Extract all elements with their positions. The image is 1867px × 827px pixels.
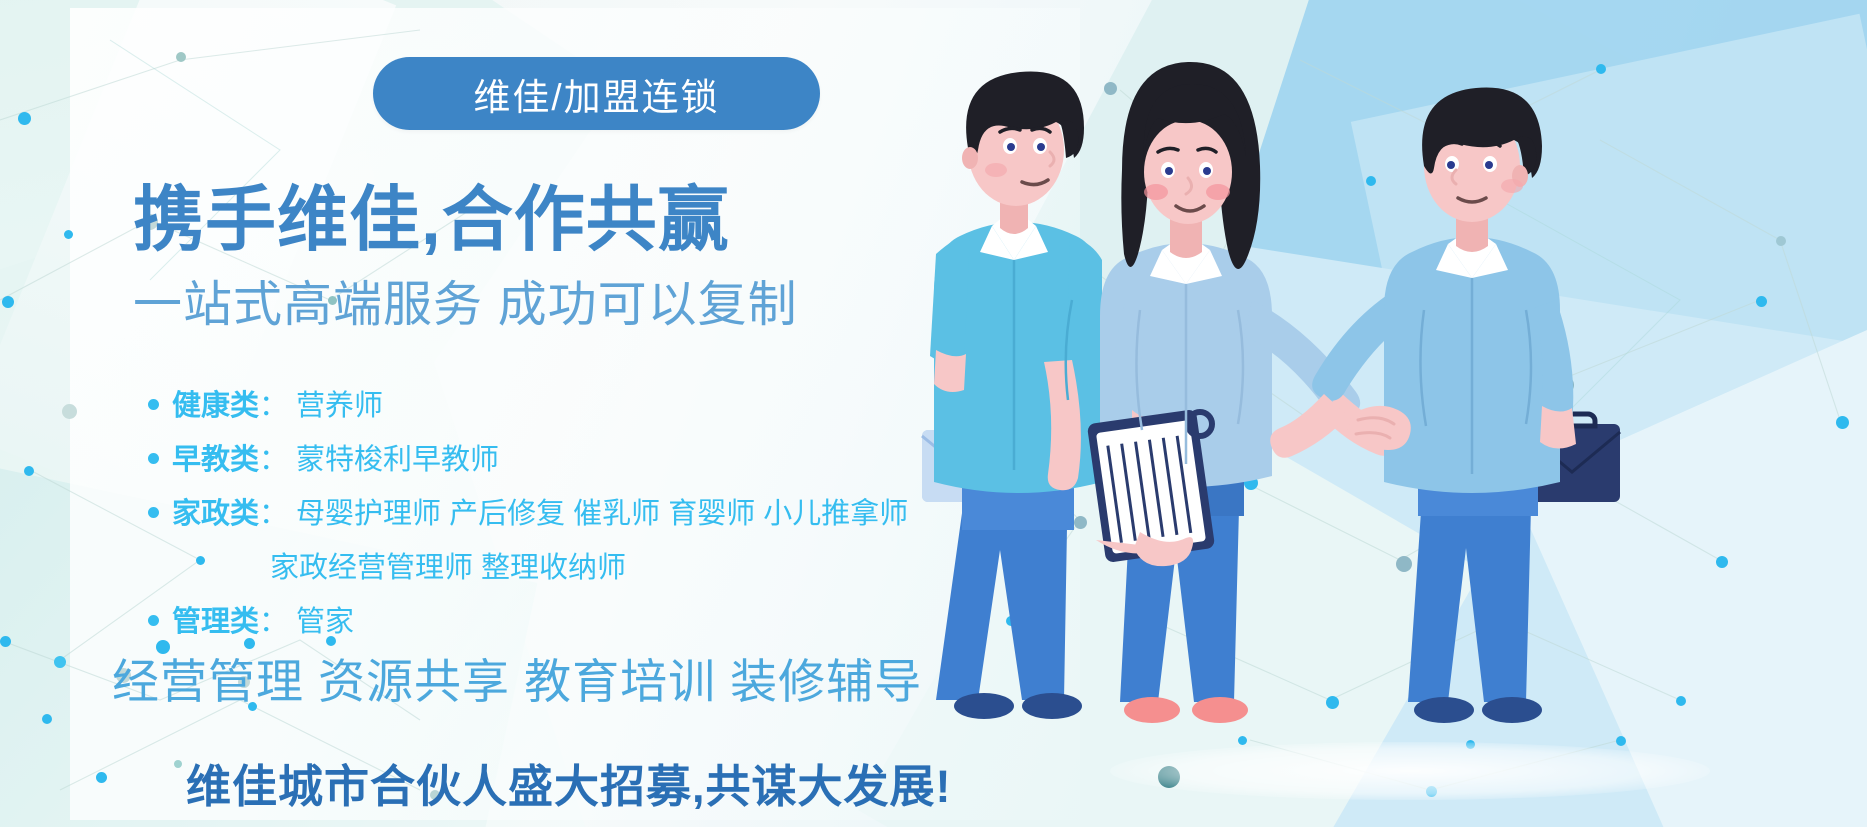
category-label: 健康类 — [172, 382, 259, 424]
category-row: 健康类 ： 营养师 — [148, 382, 1048, 424]
bullet-icon — [148, 615, 159, 626]
category-items: 蒙特梭利早教师 — [296, 436, 499, 478]
headline: 携手维佳,合作共赢 — [133, 163, 730, 265]
category-colon: ： — [259, 382, 288, 424]
promo-banner: 维佳/加盟连锁 携手维佳,合作共赢 一站式高端服务 成功可以复制 健康类 ： 营… — [0, 0, 1867, 827]
text-content: 维佳/加盟连锁 携手维佳,合作共赢 一站式高端服务 成功可以复制 健康类 ： 营… — [0, 0, 1100, 827]
category-label: 管理类 — [172, 598, 259, 640]
category-items: 营养师 — [296, 382, 383, 424]
category-row: 早教类 ： 蒙特梭利早教师 — [148, 436, 1048, 478]
category-row: 家政类 ： 母婴护理师 产后修复 催乳师 育婴师 小儿推拿师 — [148, 490, 1048, 532]
figure-man-right — [1270, 87, 1620, 723]
category-items-continuation: 家政经营管理师 整理收纳师 — [148, 544, 1048, 586]
category-items: 管家 — [296, 598, 354, 640]
services-line: 经营管理 资源共享 教育培训 装修辅导 — [112, 643, 922, 712]
category-row: 管理类 ： 管家 — [148, 598, 1048, 640]
category-label: 早教类 — [172, 436, 259, 478]
brand-badge-label: 维佳/加盟连锁 — [473, 67, 719, 121]
category-colon: ： — [259, 436, 288, 478]
category-colon: ： — [259, 598, 288, 640]
category-list: 健康类 ： 营养师 早教类 ： 蒙特梭利早教师 家政类 ： 母婴护理师 产后修复… — [148, 382, 1048, 652]
figure-woman-center — [1087, 62, 1398, 723]
category-items: 母婴护理师 产后修复 催乳师 育婴师 小儿推拿师 — [296, 490, 908, 532]
call-to-action: 维佳城市合伙人盛大招募,共谋大发展! — [186, 750, 952, 815]
bullet-icon — [148, 507, 159, 518]
bullet-icon — [148, 399, 159, 410]
subheadline: 一站式高端服务 成功可以复制 — [133, 265, 798, 336]
category-colon: ： — [259, 490, 288, 532]
category-label: 家政类 — [172, 490, 259, 532]
bullet-icon — [148, 453, 159, 464]
brand-badge[interactable]: 维佳/加盟连锁 — [373, 57, 820, 130]
